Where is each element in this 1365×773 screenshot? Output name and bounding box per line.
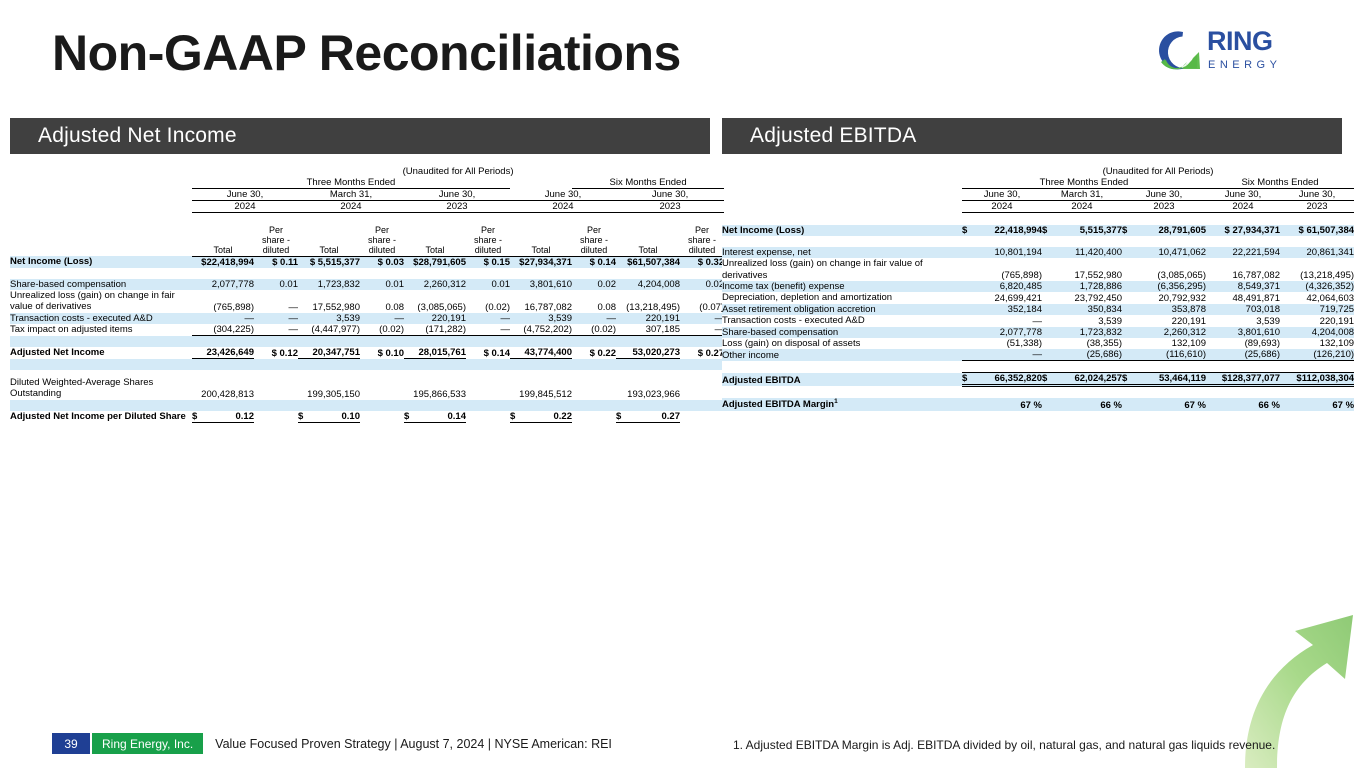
period-year-1: 2024 xyxy=(192,201,298,213)
unaudited-row: (Unaudited for All Periods) xyxy=(10,166,724,177)
period-year-4: 2024 xyxy=(510,201,616,213)
table-row: Income tax (benefit) expense 6,820,485 1… xyxy=(722,281,1354,292)
cell: — xyxy=(680,313,724,324)
row-spacer xyxy=(722,361,1354,373)
table-row: Tax impact on adjusted items (304,225) —… xyxy=(10,324,724,336)
cell xyxy=(572,377,616,400)
adjusted-net-income-table: (Unaudited for All Periods) Three Months… xyxy=(10,166,724,423)
row-label-share-based-compensation: Share-based compensation xyxy=(10,279,192,290)
cell: $ 61,507,384 xyxy=(1280,225,1354,236)
cell: (171,282) xyxy=(404,324,466,336)
cell: — xyxy=(254,313,298,324)
cell: 703,018 xyxy=(1206,304,1280,315)
cell: $0.12 xyxy=(192,411,254,423)
table-row: Net Income (Loss) $ 22,418,994 $ 5,515,3… xyxy=(722,225,1354,236)
footnote-text: 1. Adjusted EBITDA Margin is Adj. EBITDA… xyxy=(733,738,1275,752)
table-row: Share-based compensation 2,077,778 0.01 … xyxy=(10,279,724,290)
cell: $ 0.27 xyxy=(680,347,724,359)
cell xyxy=(680,377,724,400)
row-spacer xyxy=(10,268,724,279)
page-title: Non-GAAP Reconciliations xyxy=(52,24,681,82)
cell: $ 27,934,371 xyxy=(1206,225,1280,236)
table-row: Transaction costs - executed A&D — — 3,5… xyxy=(10,313,724,324)
cell: — xyxy=(466,313,510,324)
cell: 10,471,062 xyxy=(1136,247,1206,258)
cell: (304,225) xyxy=(192,324,254,336)
cell: 23,792,450 xyxy=(1056,292,1122,303)
cell: 0.01 xyxy=(360,279,404,290)
cell: 199,305,150 xyxy=(298,377,360,400)
cell: 22,418,994 xyxy=(976,225,1042,236)
table-row: Unrealized loss (gain) on change in fair… xyxy=(10,290,724,313)
table-row-per-share: Adjusted Net Income per Diluted Share $0… xyxy=(10,411,724,423)
logo-word-sub: ENERGY xyxy=(1208,59,1281,71)
cell xyxy=(466,377,510,400)
colhdr-per-share-3: Per share - diluted xyxy=(466,225,510,257)
cell: 307,185 xyxy=(616,324,680,336)
cell: $ 0.32 xyxy=(680,256,724,268)
cell: 3,539 xyxy=(1056,315,1122,326)
section-title-right: Adjusted EBITDA xyxy=(750,124,916,148)
cell: 67 % xyxy=(1136,398,1206,411)
cell: 1,723,832 xyxy=(1056,327,1122,338)
page-number-badge: 39 xyxy=(52,733,90,754)
adjusted-net-income-panel: (Unaudited for All Periods) Three Months… xyxy=(10,166,724,423)
colhdr-per-share-2: Per share - diluted xyxy=(360,225,404,257)
table-row-total: Adjusted EBITDA $ 66,352,820 $ 62,024,25… xyxy=(722,373,1354,386)
cell: 20,861,341 xyxy=(1280,247,1354,258)
cell: 193,023,966 xyxy=(616,377,680,400)
row-label-net-income: Net Income (Loss) xyxy=(722,225,962,236)
cell: (0.07) xyxy=(680,290,724,313)
colhdr-per-share-4: Per share - diluted xyxy=(572,225,616,257)
row-label-aro-accretion: Asset retirement obligation accretion xyxy=(722,304,962,315)
cell: 2,260,312 xyxy=(404,279,466,290)
cell xyxy=(572,411,616,423)
currency: $ xyxy=(1122,225,1136,236)
table-row: Unrealized loss (gain) on change in fair… xyxy=(722,258,1354,281)
cell: 200,428,813 xyxy=(192,377,254,400)
table-row-total: Adjusted Net Income 23,426,649 $ 0.12 20… xyxy=(10,347,724,359)
row-spacer xyxy=(10,359,724,371)
group-header-three-months: Three Months Ended xyxy=(962,177,1206,189)
period-year-5: 2023 xyxy=(616,201,724,213)
period-year-5: 2023 xyxy=(1280,201,1354,213)
period-month-2: March 31, xyxy=(298,189,404,201)
row-label-share-based-compensation: Share-based compensation xyxy=(722,327,962,338)
period-year-3: 2023 xyxy=(404,201,510,213)
row-spacer xyxy=(10,400,724,411)
currency: $ xyxy=(962,373,976,386)
cell: 0.01 xyxy=(466,279,510,290)
cell: 17,552,980 xyxy=(298,290,360,313)
cell: (25,686) xyxy=(1206,349,1280,361)
cell: 3,801,610 xyxy=(1206,327,1280,338)
cell: 66,352,820 xyxy=(976,373,1042,386)
period-month-5: June 30, xyxy=(1280,189,1354,201)
colhdr-per-share-5: Per share - diluted xyxy=(680,225,724,257)
cell: (0.02) xyxy=(360,324,404,336)
cell: (4,752,202) xyxy=(510,324,572,336)
cell: (765,898) xyxy=(192,290,254,313)
unaudited-row: (Unaudited for All Periods) xyxy=(722,166,1354,177)
table-row: Other income — (25,686) (116,610) (25,68… xyxy=(722,349,1354,361)
cell: $112,038,304 xyxy=(1280,373,1354,386)
currency: $ xyxy=(1122,373,1136,386)
cell: 67 % xyxy=(1280,398,1354,411)
period-month-4: June 30, xyxy=(1206,189,1280,201)
period-year-row: 2024 2024 2023 2024 2023 xyxy=(722,201,1354,213)
cell: 132,109 xyxy=(1136,338,1206,349)
period-month-2: March 31, xyxy=(1042,189,1122,201)
row-label-income-tax: Income tax (benefit) expense xyxy=(722,281,962,292)
period-month-3: June 30, xyxy=(1122,189,1206,201)
cell: (13,218,495) xyxy=(616,290,680,313)
cell: 719,725 xyxy=(1280,304,1354,315)
header-spacer xyxy=(722,213,1354,225)
row-spacer xyxy=(10,336,724,348)
cell: 1,723,832 xyxy=(298,279,360,290)
table-row: Depreciation, depletion and amortization… xyxy=(722,292,1354,303)
cell: 353,878 xyxy=(1136,304,1206,315)
footer: 39 Ring Energy, Inc. Value Focused Prove… xyxy=(52,733,612,754)
cell xyxy=(360,411,404,423)
cell: (25,686) xyxy=(1056,349,1122,361)
colhdr-total-5: Total xyxy=(616,225,680,257)
currency: $ xyxy=(1042,225,1056,236)
cell: (116,610) xyxy=(1136,349,1206,361)
column-header-row: Total Per share - diluted Total Per shar… xyxy=(10,225,724,257)
period-month-1: June 30, xyxy=(192,189,298,201)
cell: 11,420,400 xyxy=(1056,247,1122,258)
cell: $0.10 xyxy=(298,411,360,423)
section-header-adjusted-ebitda: Adjusted EBITDA xyxy=(722,118,1342,154)
row-label-tax-impact: Tax impact on adjusted items xyxy=(10,324,192,336)
period-month-5: June 30, xyxy=(616,189,724,201)
period-year-3: 2023 xyxy=(1122,201,1206,213)
table-row: Loss (gain) on disposal of assets (51,33… xyxy=(722,338,1354,349)
row-label-other-income: Other income xyxy=(722,349,962,361)
cell: (4,447,977) xyxy=(298,324,360,336)
period-year-row: 2024 2024 2023 2024 2023 xyxy=(10,201,724,213)
colhdr-total-4: Total xyxy=(510,225,572,257)
cell: (3,085,065) xyxy=(1136,258,1206,281)
currency: $ xyxy=(1042,373,1056,386)
table-row: Asset retirement obligation accretion 35… xyxy=(722,304,1354,315)
cell: 0.01 xyxy=(254,279,298,290)
cell: 23,426,649 xyxy=(192,347,254,359)
row-label-dda: Depreciation, depletion and amortization xyxy=(722,292,962,303)
row-label-adjusted-net-income: Adjusted Net Income xyxy=(10,347,192,359)
cell: 3,801,610 xyxy=(510,279,572,290)
adjusted-ebitda-panel: (Unaudited for All Periods) Three Months… xyxy=(722,166,1344,411)
cell: 53,020,273 xyxy=(616,347,680,359)
cell: 350,834 xyxy=(1056,304,1122,315)
cell: — xyxy=(976,315,1042,326)
header-spacer xyxy=(10,213,724,225)
cell: $ 5,515,377 xyxy=(298,256,360,268)
ring-energy-logo: RING ENERGY xyxy=(1145,22,1307,80)
row-label-loss-gain-disposal: Loss (gain) on disposal of assets xyxy=(722,338,962,349)
cell xyxy=(466,411,510,423)
colhdr-total-2: Total xyxy=(298,225,360,257)
cell: 66 % xyxy=(1206,398,1280,411)
cell: 20,347,751 xyxy=(298,347,360,359)
row-label-net-income: Net Income (Loss) xyxy=(10,256,192,268)
group-header-six-months: Six Months Ended xyxy=(1206,177,1354,189)
cell: 2,077,778 xyxy=(192,279,254,290)
cell: $22,418,994 xyxy=(192,256,254,268)
cell: 2,260,312 xyxy=(1136,327,1206,338)
cell xyxy=(254,377,298,400)
cell: $ 0.11 xyxy=(254,256,298,268)
cell: 4,204,008 xyxy=(616,279,680,290)
cell: 28,015,761 xyxy=(404,347,466,359)
cell: — xyxy=(192,313,254,324)
cell: (3,085,065) xyxy=(404,290,466,313)
table-row: Share-based compensation 2,077,778 1,723… xyxy=(722,327,1354,338)
footer-tagline: Value Focused Proven Strategy | August 7… xyxy=(215,737,612,751)
cell: (0.02) xyxy=(572,324,616,336)
unaudited-label: (Unaudited for All Periods) xyxy=(962,166,1354,177)
cell: $0.22 xyxy=(510,411,572,423)
row-label-transaction-costs: Transaction costs - executed A&D xyxy=(722,315,962,326)
table-row: Net Income (Loss) $22,418,994 $ 0.11 $ 5… xyxy=(10,256,724,268)
cell: (51,338) xyxy=(976,338,1042,349)
cell: 24,699,421 xyxy=(976,292,1042,303)
cell: 0.02 xyxy=(680,279,724,290)
cell: 0.08 xyxy=(572,290,616,313)
adjusted-ebitda-table: (Unaudited for All Periods) Three Months… xyxy=(722,166,1354,411)
cell: — xyxy=(680,324,724,336)
table-row: Transaction costs - executed A&D — 3,539… xyxy=(722,315,1354,326)
cell: 43,774,400 xyxy=(510,347,572,359)
period-year-2: 2024 xyxy=(1042,201,1122,213)
row-label-diluted-shares: Diluted Weighted-Average Shares Outstand… xyxy=(10,377,192,400)
logo-word-main: RING xyxy=(1207,26,1273,56)
section-header-adjusted-net-income: Adjusted Net Income xyxy=(10,118,710,154)
cell: 0.02 xyxy=(572,279,616,290)
cell: 28,791,605 xyxy=(1136,225,1206,236)
cell: (89,693) xyxy=(1206,338,1280,349)
cell: 220,191 xyxy=(616,313,680,324)
cell: 1,728,886 xyxy=(1056,281,1122,292)
cell: $61,507,384 xyxy=(616,256,680,268)
cell: (4,326,352) xyxy=(1280,281,1354,292)
row-label-adjusted-ebitda-margin: Adjusted EBITDA Margin1 xyxy=(722,398,962,411)
cell: 220,191 xyxy=(1136,315,1206,326)
cell: 220,191 xyxy=(404,313,466,324)
row-label-unrealized-loss: Unrealized loss (gain) on change in fair… xyxy=(10,290,192,313)
cell: — xyxy=(360,313,404,324)
row-label-transaction-costs: Transaction costs - executed A&D xyxy=(10,313,192,324)
cell: $ 0.15 xyxy=(466,256,510,268)
period-month-4: June 30, xyxy=(510,189,616,201)
brand-badge: Ring Energy, Inc. xyxy=(92,733,203,754)
colhdr-per-share-1: Per share - diluted xyxy=(254,225,298,257)
row-spacer xyxy=(10,370,724,377)
cell: $ 0.12 xyxy=(254,347,298,359)
cell: 195,866,533 xyxy=(404,377,466,400)
cell xyxy=(254,411,298,423)
footnote-marker: 1 xyxy=(834,398,838,405)
period-month-row: June 30, March 31, June 30, June 30, Jun… xyxy=(722,189,1354,201)
cell: 0.08 xyxy=(360,290,404,313)
cell: $0.14 xyxy=(404,411,466,423)
row-spacer xyxy=(722,236,1354,247)
colhdr-total-3: Total xyxy=(404,225,466,257)
cell: 3,539 xyxy=(1206,315,1280,326)
group-header-six-months: Six Months Ended xyxy=(572,177,724,189)
cell: 199,845,512 xyxy=(510,377,572,400)
row-label-adjusted-net-income-per-share: Adjusted Net Income per Diluted Share xyxy=(10,411,192,423)
cell: (13,218,495) xyxy=(1280,258,1354,281)
cell: 22,221,594 xyxy=(1206,247,1280,258)
cell: $ 0.10 xyxy=(360,347,404,359)
cell: (38,355) xyxy=(1056,338,1122,349)
cell: 8,549,371 xyxy=(1206,281,1280,292)
cell: 3,539 xyxy=(510,313,572,324)
currency: $ xyxy=(962,225,976,236)
cell: $27,934,371 xyxy=(510,256,572,268)
period-month-1: June 30, xyxy=(962,189,1042,201)
cell: (6,356,295) xyxy=(1136,281,1206,292)
cell: (126,210) xyxy=(1280,349,1354,361)
cell xyxy=(360,377,404,400)
cell: 4,204,008 xyxy=(1280,327,1354,338)
cell: $128,377,077 xyxy=(1206,373,1280,386)
cell: 10,801,194 xyxy=(976,247,1042,258)
cell: 42,064,603 xyxy=(1280,292,1354,303)
group-header-row: Three Months Ended Six Months Ended xyxy=(10,177,724,189)
row-label-unrealized-loss: Unrealized loss (gain) on change in fair… xyxy=(722,258,962,281)
cell: 16,787,082 xyxy=(510,290,572,313)
cell: 62,024,257 xyxy=(1056,373,1122,386)
colhdr-total-1: Total xyxy=(192,225,254,257)
cell: 66 % xyxy=(1056,398,1122,411)
group-header-row: Three Months Ended Six Months Ended xyxy=(722,177,1354,189)
cell: $ 0.14 xyxy=(466,347,510,359)
cell: 53,464,119 xyxy=(1136,373,1206,386)
cell: 16,787,082 xyxy=(1206,258,1280,281)
period-month-3: June 30, xyxy=(404,189,510,201)
cell: (0.02) xyxy=(466,290,510,313)
period-year-2: 2024 xyxy=(298,201,404,213)
period-year-1: 2024 xyxy=(962,201,1042,213)
cell: 3,539 xyxy=(298,313,360,324)
cell: — xyxy=(254,290,298,313)
cell xyxy=(680,411,724,423)
cell: 5,515,377 xyxy=(1056,225,1122,236)
cell: $ 0.14 xyxy=(572,256,616,268)
cell: $28,791,605 xyxy=(404,256,466,268)
cell: $ 0.22 xyxy=(572,347,616,359)
cell: (765,898) xyxy=(976,258,1042,281)
group-header-three-months: Three Months Ended xyxy=(192,177,510,189)
row-label-adjusted-ebitda: Adjusted EBITDA xyxy=(722,373,962,386)
cell: — xyxy=(976,349,1042,361)
table-row: Diluted Weighted-Average Shares Outstand… xyxy=(10,377,724,400)
cell: 220,191 xyxy=(1280,315,1354,326)
cell: 67 % xyxy=(976,398,1042,411)
cell: 132,109 xyxy=(1280,338,1354,349)
section-title-left: Adjusted Net Income xyxy=(38,124,237,148)
cell: 17,552,980 xyxy=(1056,258,1122,281)
cell: 20,792,932 xyxy=(1136,292,1206,303)
cell: $ 0.03 xyxy=(360,256,404,268)
cell: $0.27 xyxy=(616,411,680,423)
table-row-margin: Adjusted EBITDA Margin1 67 % 66 % 67 % 6… xyxy=(722,398,1354,411)
unaudited-label: (Unaudited for All Periods) xyxy=(192,166,724,177)
table-row: Interest expense, net 10,801,194 11,420,… xyxy=(722,247,1354,258)
cell: 352,184 xyxy=(976,304,1042,315)
period-year-4: 2024 xyxy=(1206,201,1280,213)
cell: — xyxy=(254,324,298,336)
period-month-row: June 30, March 31, June 30, June 30, Jun… xyxy=(10,189,724,201)
cell: 48,491,871 xyxy=(1206,292,1280,303)
cell: — xyxy=(572,313,616,324)
row-spacer xyxy=(722,386,1354,399)
row-label-interest-expense: Interest expense, net xyxy=(722,247,962,258)
cell: — xyxy=(466,324,510,336)
cell: 6,820,485 xyxy=(976,281,1042,292)
cell: 2,077,778 xyxy=(976,327,1042,338)
